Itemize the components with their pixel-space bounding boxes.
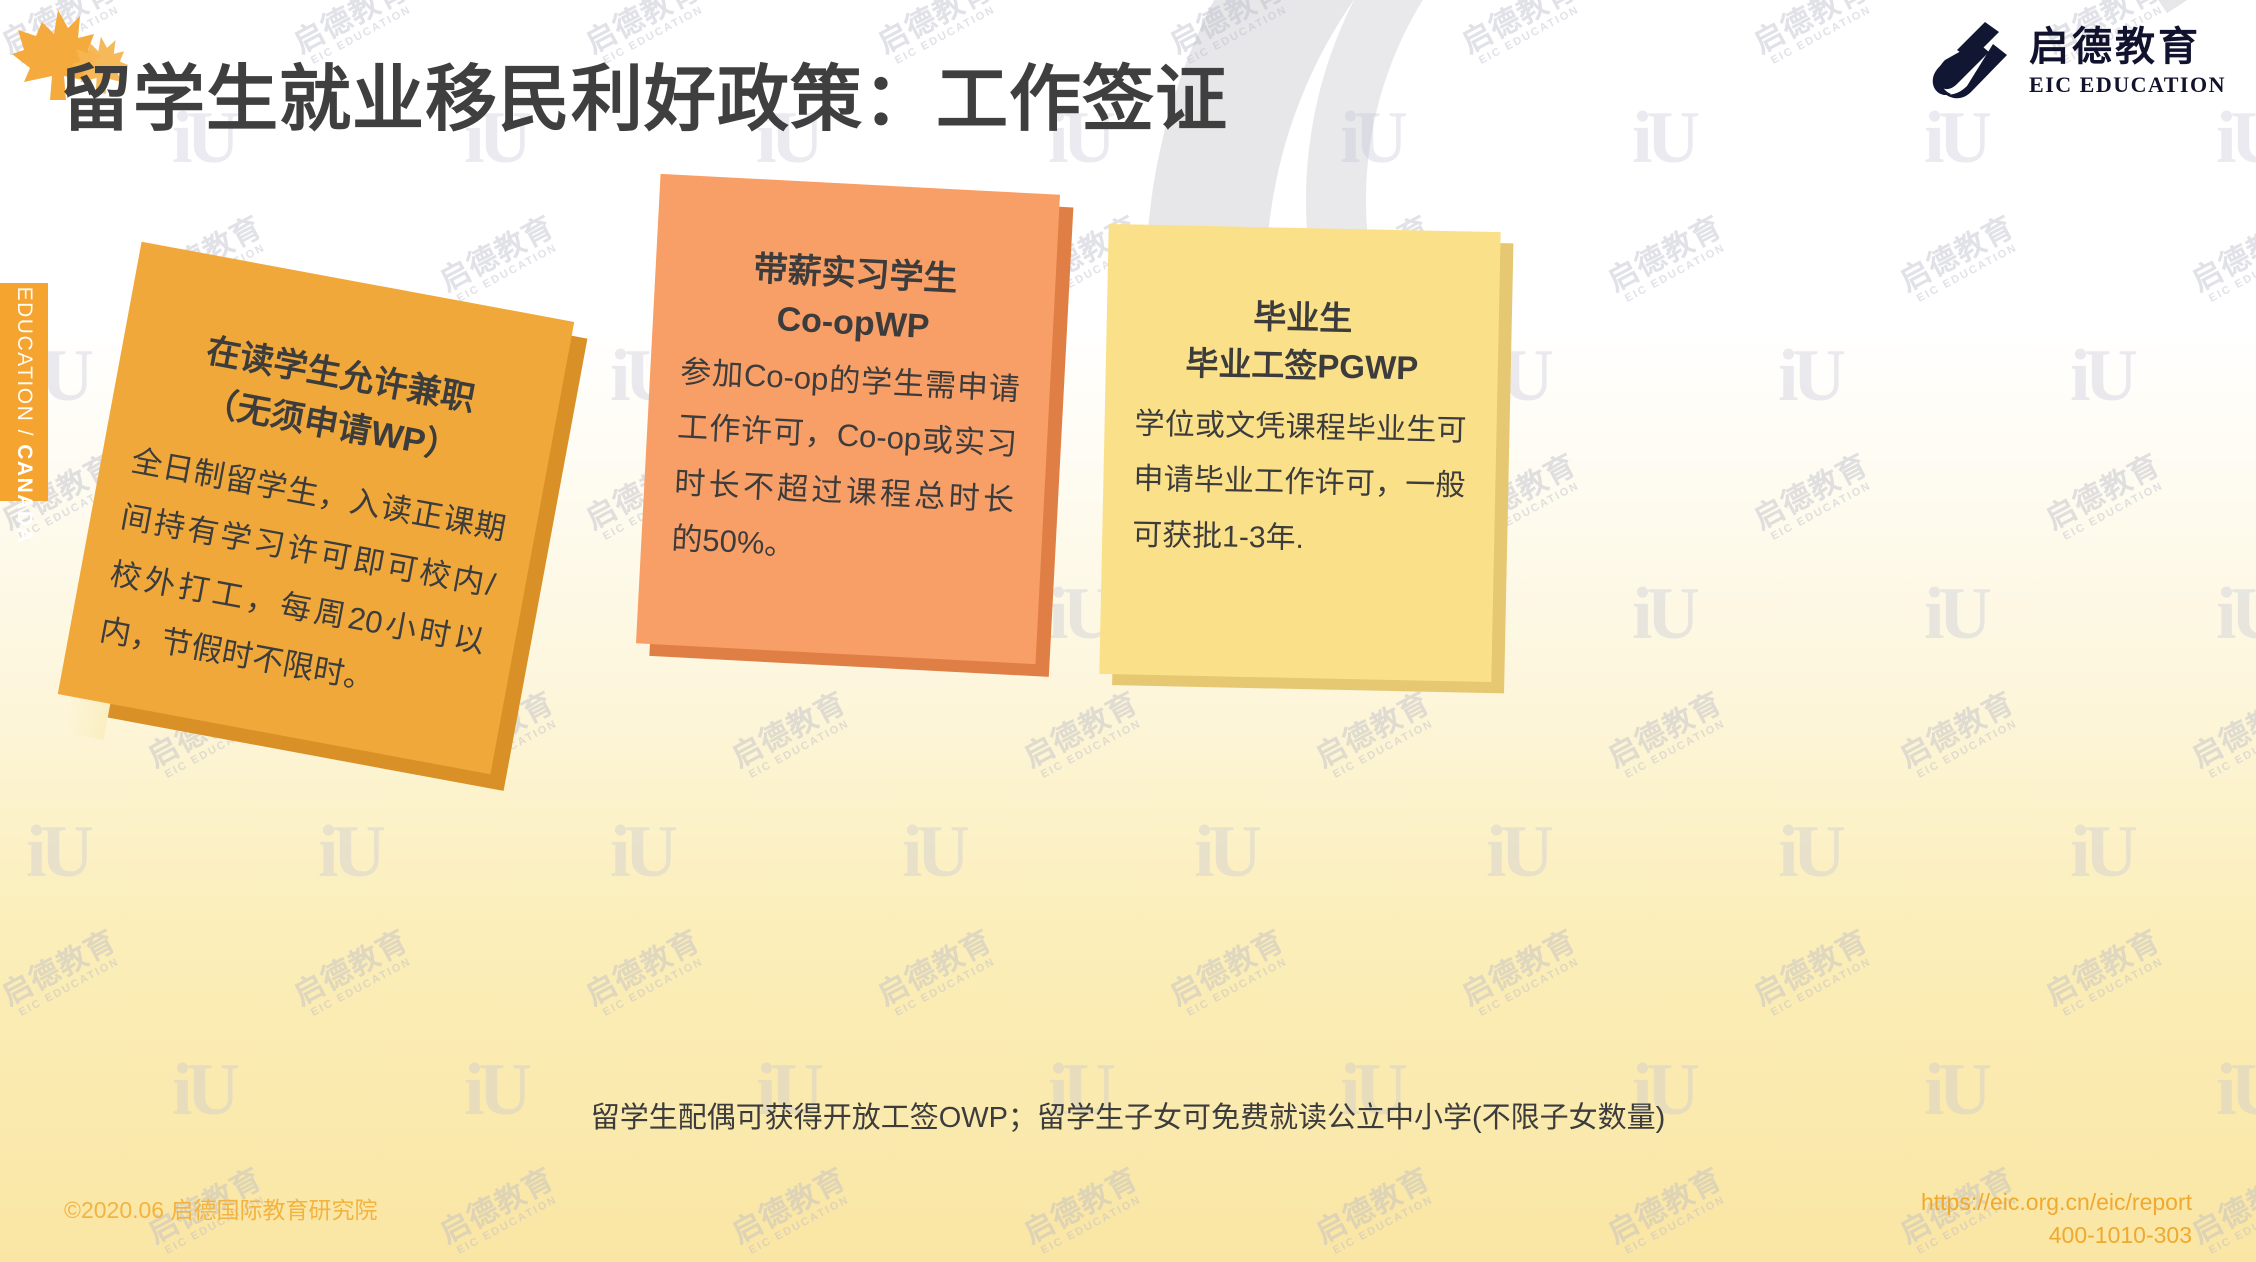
- watermark-text: 启德教育EIC EDUCATION: [1603, 211, 1733, 307]
- watermark-text-cn: 启德教育: [289, 925, 413, 1011]
- watermark-text-cn: 启德教育: [2041, 925, 2165, 1011]
- page-title: 留学生就业移民利好政策：工作签证: [60, 40, 1228, 145]
- watermark-text-cn: 启德教育: [0, 925, 121, 1011]
- watermark-text-cn: 启德教育: [1895, 687, 2019, 773]
- watermark-mark-icon: iU: [1924, 96, 1986, 181]
- watermark-text-en: EIC EDUCATION: [450, 239, 565, 307]
- card-pgwp[interactable]: 毕业生 毕业工签PGWP 学位或文凭课程毕业生可申请毕业工作许可，一般可获批1-…: [1099, 224, 1500, 682]
- watermark-text-en: EIC EDUCATION: [1618, 1191, 1733, 1259]
- watermark-text-cn: 启德教育: [727, 1163, 851, 1249]
- watermark-text-en: EIC EDUCATION: [304, 953, 419, 1021]
- watermark-text-en: EIC EDUCATION: [1618, 715, 1733, 783]
- watermark-mark-icon: iU: [2070, 334, 2132, 419]
- watermark-text: 启德教育EIC EDUCATION: [2187, 211, 2256, 307]
- watermark-text-cn: 启德教育: [1749, 0, 1873, 59]
- footer-phone: 400-1010-303: [1921, 1219, 2192, 1252]
- card-title-line2: 毕业工签PGWP: [1185, 339, 1419, 392]
- watermark-text-cn: 启德教育: [1895, 211, 2019, 297]
- watermark-text-en: EIC EDUCATION: [1326, 715, 1441, 783]
- watermark-mark-icon: iU: [1194, 810, 1256, 895]
- watermark-text-en: EIC EDUCATION: [1910, 239, 2025, 307]
- watermark-mark-icon: iU: [1778, 334, 1840, 419]
- brand-logo: 启德教育 EIC EDUCATION: [1931, 18, 2226, 104]
- watermark-text-en: EIC EDUCATION: [2056, 477, 2171, 545]
- card-title-line2: Co-opWP: [750, 294, 956, 354]
- watermark-text: 启德教育EIC EDUCATION: [1019, 1163, 1149, 1259]
- watermark-text: 启德教育EIC EDUCATION: [1019, 687, 1149, 783]
- watermark-text-en: EIC EDUCATION: [1764, 953, 1879, 1021]
- watermark-mark-icon: iU: [318, 810, 380, 895]
- watermark-text-en: EIC EDUCATION: [1618, 239, 1733, 307]
- watermark-text-cn: 启德教育: [2187, 687, 2256, 773]
- footnote-caption: 留学生配偶可获得开放工签OWP；留学生子女可免费就读公立中小学(不限子女数量): [0, 1094, 2256, 1136]
- watermark-text-en: EIC EDUCATION: [450, 1191, 565, 1259]
- watermark-text-cn: 启德教育: [1311, 687, 1435, 773]
- watermark-text: 启德教育EIC EDUCATION: [1895, 687, 2025, 783]
- watermark-text-cn: 启德教育: [727, 687, 851, 773]
- watermark-text-en: EIC EDUCATION: [596, 953, 711, 1021]
- watermark-text-cn: 启德教育: [435, 1163, 559, 1249]
- watermark-mark-icon: iU: [1778, 810, 1840, 895]
- watermark-text-cn: 启德教育: [1457, 925, 1581, 1011]
- footer-contact: https://eic.org.cn/eic/report 400-1010-3…: [1921, 1186, 2192, 1253]
- watermark-text-cn: 启德教育: [1749, 449, 1873, 535]
- watermark-text: 启德教育EIC EDUCATION: [1165, 925, 1295, 1021]
- watermark-text: 启德教育EIC EDUCATION: [289, 925, 419, 1021]
- watermark-text-en: EIC EDUCATION: [1472, 1, 1587, 69]
- watermark-mark-icon: iU: [1340, 96, 1402, 181]
- watermark-text-cn: 启德教育: [1457, 0, 1581, 59]
- watermark-text: 启德教育EIC EDUCATION: [2187, 687, 2256, 783]
- watermark-text-en: EIC EDUCATION: [888, 953, 1003, 1021]
- watermark-text-en: EIC EDUCATION: [2202, 239, 2256, 307]
- watermark-mark-icon: iU: [902, 810, 964, 895]
- logo-text-cn: 启德教育: [2029, 27, 2226, 67]
- watermark-mark-icon: iU: [610, 810, 672, 895]
- watermark-text-en: EIC EDUCATION: [1910, 715, 2025, 783]
- watermark-text: 启德教育EIC EDUCATION: [1457, 0, 1587, 70]
- watermark-text-en: EIC EDUCATION: [2056, 953, 2171, 1021]
- watermark-text: 启德教育EIC EDUCATION: [727, 1163, 857, 1259]
- watermark-text: 启德教育EIC EDUCATION: [1603, 1163, 1733, 1259]
- watermark-text-cn: 启德教育: [1165, 925, 1289, 1011]
- sidebar-tab-canada: EIC EDUCATION / CANADA: [0, 283, 48, 501]
- watermark-text-cn: 启德教育: [2041, 449, 2165, 535]
- watermark-mark-icon: iU: [1632, 96, 1694, 181]
- watermark-text: 启德教育EIC EDUCATION: [1603, 687, 1733, 783]
- card-body: 学位或文凭课程毕业生可申请毕业工作许可，一般可获批1-3年.: [1132, 396, 1467, 569]
- watermark-text-cn: 启德教育: [2187, 1163, 2256, 1249]
- card-title: 毕业生 毕业工签PGWP: [1185, 292, 1420, 393]
- watermark-text-en: EIC EDUCATION: [742, 1191, 857, 1259]
- footer-copyright: ©2020.06 启德国际教育研究院: [64, 1191, 377, 1225]
- sidebar-tab-middle: EDUCATION /: [13, 279, 36, 444]
- watermark-text-cn: 启德教育: [581, 925, 705, 1011]
- watermark-text: 启德教育EIC EDUCATION: [435, 211, 565, 307]
- card-title-line1: 毕业生: [1186, 292, 1420, 345]
- sidebar-tab-label: EIC EDUCATION / CANADA: [12, 240, 36, 544]
- watermark-text-cn: 启德教育: [435, 211, 559, 297]
- watermark-mark-icon: iU: [1486, 810, 1548, 895]
- watermark-text: 启德教育EIC EDUCATION: [1311, 1163, 1441, 1259]
- watermark-text: 启德教育EIC EDUCATION: [873, 925, 1003, 1021]
- watermark-mark-icon: iU: [26, 810, 88, 895]
- watermark-text: 启德教育EIC EDUCATION: [1311, 687, 1441, 783]
- card-work-permit-exempt[interactable]: 在读学生允许兼职 （无须申请WP） 全日制留学生，入读正课期间持有学习许可即可校…: [58, 242, 574, 774]
- watermark-text-en: EIC EDUCATION: [12, 953, 127, 1021]
- watermark-text-cn: 启德教育: [1603, 211, 1727, 297]
- watermark-text-cn: 启德教育: [1603, 1163, 1727, 1249]
- watermark-text: 启德教育EIC EDUCATION: [435, 1163, 565, 1259]
- watermark-text: 启德教育EIC EDUCATION: [727, 687, 857, 783]
- watermark-text-cn: 启德教育: [1311, 1163, 1435, 1249]
- watermark-text-cn: 启德教育: [873, 925, 997, 1011]
- watermark-text-en: EIC EDUCATION: [1326, 1191, 1441, 1259]
- sidebar-tab-prefix: EIC: [13, 240, 36, 280]
- card-title: 带薪实习学生 Co-opWP: [750, 245, 959, 354]
- watermark-text-cn: 启德教育: [1019, 687, 1143, 773]
- watermark-text-en: EIC EDUCATION: [2202, 1191, 2256, 1259]
- watermark-text: 启德教育EIC EDUCATION: [2041, 449, 2171, 545]
- watermark-text: 启德教育EIC EDUCATION: [2187, 1163, 2256, 1259]
- watermark-text: 启德教育EIC EDUCATION: [1749, 449, 1879, 545]
- watermark-mark-icon: iU: [1632, 572, 1694, 657]
- logo-text-en: EIC EDUCATION: [2029, 74, 2226, 96]
- watermark-text-en: EIC EDUCATION: [742, 715, 857, 783]
- watermark-text-cn: 启德教育: [1749, 925, 1873, 1011]
- footer-url[interactable]: https://eic.org.cn/eic/report: [1921, 1186, 2192, 1219]
- watermark-text-en: EIC EDUCATION: [1034, 1191, 1149, 1259]
- watermark-text-en: EIC EDUCATION: [1764, 477, 1879, 545]
- watermark-text-en: EIC EDUCATION: [1034, 715, 1149, 783]
- watermark-text: 启德教育EIC EDUCATION: [581, 925, 711, 1021]
- watermark-mark-icon: iU: [1924, 572, 1986, 657]
- card-body: 全日制留学生，入读正课期间持有学习许可即可校内/校外打工，每周20小时以内，节假…: [95, 432, 510, 727]
- watermark-text-en: EIC EDUCATION: [1180, 953, 1295, 1021]
- watermark-text: 启德教育EIC EDUCATION: [1749, 0, 1879, 70]
- watermark-mark-icon: iU: [2216, 96, 2256, 181]
- watermark-mark-icon: iU: [2216, 572, 2256, 657]
- watermark-mark-icon: iU: [2070, 810, 2132, 895]
- watermark-text-en: EIC EDUCATION: [1472, 953, 1587, 1021]
- watermark-text-cn: 启德教育: [2187, 211, 2256, 297]
- watermark-text-cn: 启德教育: [1603, 687, 1727, 773]
- slide-canvas: 启德教育EIC EDUCATIONiU启德教育EIC EDUCATIONiU启德…: [0, 0, 2256, 1262]
- watermark-text: 启德教育EIC EDUCATION: [2041, 925, 2171, 1021]
- card-body: 参加Co-op的学生需申请工作许可，Co-op或实习时长不超过课程总时长的50%…: [670, 344, 1021, 585]
- watermark-text-cn: 启德教育: [1019, 1163, 1143, 1249]
- watermark-text-en: EIC EDUCATION: [1764, 1, 1879, 69]
- watermark-text: 启德教育EIC EDUCATION: [1895, 211, 2025, 307]
- eic-logo-mark-icon: [1931, 18, 2013, 104]
- watermark-text-en: EIC EDUCATION: [2202, 715, 2256, 783]
- watermark-text: 启德教育EIC EDUCATION: [1749, 925, 1879, 1021]
- watermark-text: 启德教育EIC EDUCATION: [1457, 925, 1587, 1021]
- card-coop-wp[interactable]: 带薪实习学生 Co-opWP 参加Co-op的学生需申请工作许可，Co-op或实…: [636, 174, 1060, 664]
- watermark-text: 启德教育EIC EDUCATION: [0, 925, 127, 1021]
- sidebar-tab-suffix: CANADA: [13, 444, 36, 544]
